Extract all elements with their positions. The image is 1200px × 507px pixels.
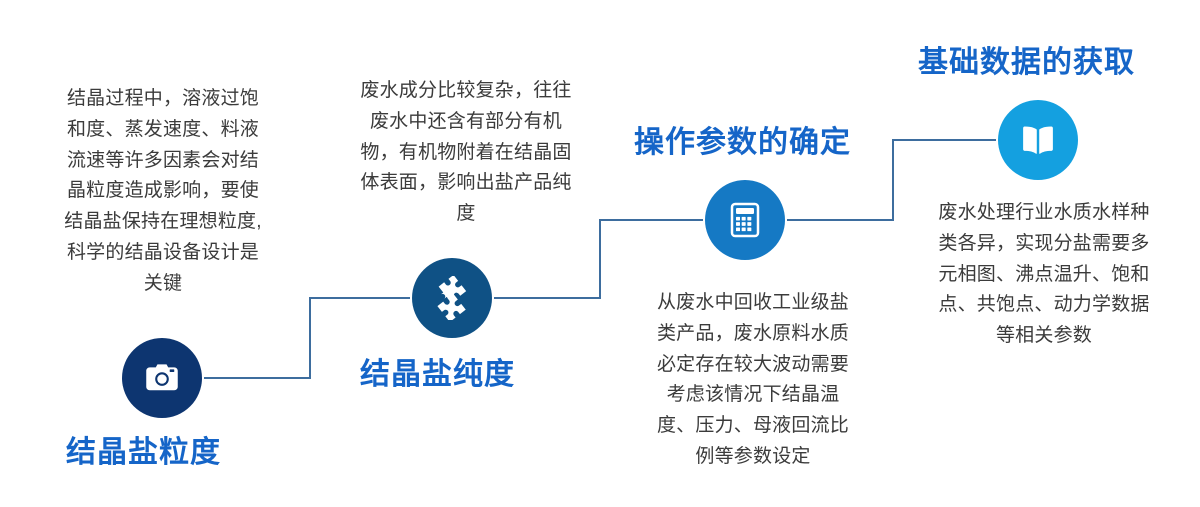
connector-2-3	[494, 220, 703, 298]
step-3-title: 操作参数的确定	[634, 126, 851, 159]
step-3-body-text: 从废水中回收工业级盐类产品，废水原料水质必定存在较大波动需要考虑该情况下结晶温度…	[648, 288, 858, 473]
step-2-icon-circle[interactable]	[412, 258, 492, 338]
calculator-icon	[725, 200, 765, 240]
step-2-title: 结晶盐纯度	[360, 358, 515, 391]
puzzle-piece-icon	[430, 276, 474, 320]
infographic-canvas: 结晶盐粒度 结晶过程中，溶液过饱和度、蒸发速度、料液流速等许多因素会对结晶粒度造…	[0, 0, 1200, 507]
open-book-icon	[1017, 119, 1059, 161]
step-4-body-text: 废水处理行业水质水样种类各异，实现分盐需要多元相图、沸点温升、饱和点、共饱点、动…	[930, 198, 1158, 352]
step-1-title: 结晶盐粒度	[66, 436, 221, 469]
step-1-icon-circle[interactable]	[122, 338, 202, 418]
step-4-icon-circle[interactable]	[998, 100, 1078, 180]
step-2-body-text: 废水成分比较复杂，往往废水中还含有部分有机物，有机物附着在结晶固体表面，影响出盐…	[352, 76, 580, 230]
step-3-icon-circle[interactable]	[705, 180, 785, 260]
step-1-body-text: 结晶过程中，溶液过饱和度、蒸发速度、料液流速等许多因素会对结晶粒度造成影响，要使…	[58, 84, 268, 299]
camera-icon	[141, 357, 183, 399]
step-4-title: 基础数据的获取	[918, 46, 1135, 79]
